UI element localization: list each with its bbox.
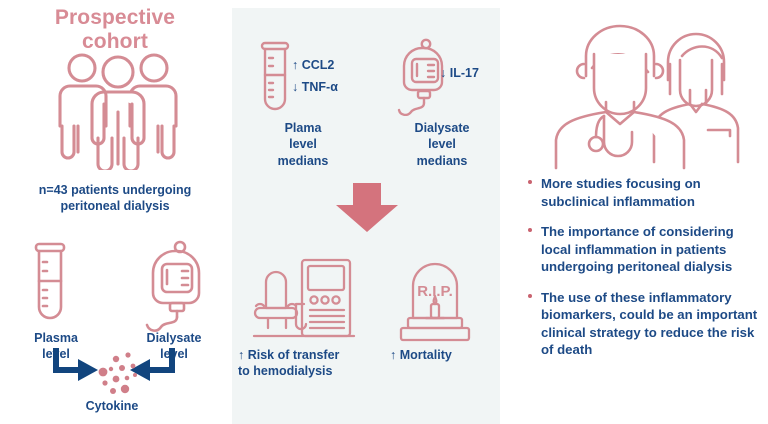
iv-bag-icon xyxy=(134,240,212,332)
plasma-label-line-1: Plasma xyxy=(34,331,78,345)
dialysis-machine-icon xyxy=(252,258,356,342)
plasma-medians-line-1: Plama xyxy=(285,121,322,135)
il17-marker-label: ↓ IL-17 xyxy=(440,66,479,80)
tnf-name: TNF-α xyxy=(302,80,338,94)
page-title: Prospective cohort xyxy=(24,6,206,53)
bullet-dot-icon xyxy=(528,294,532,298)
risk-of-transfer-caption: ↑ Risk of transfer to hemodialysis xyxy=(238,347,370,380)
il17-name: IL-17 xyxy=(450,66,479,80)
risk-caption-line-1: ↑ Risk of transfer xyxy=(238,348,339,362)
title-line-1: Prospective xyxy=(55,6,175,29)
plasma-medians-line-2: level xyxy=(289,137,317,151)
list-item: More studies focusing on subclinical inf… xyxy=(528,175,760,210)
ccl2-name: CCL2 xyxy=(302,58,335,72)
cytokine-dots-icon xyxy=(92,348,142,402)
mortality-caption-line-1: ↑ Mortality xyxy=(390,348,452,362)
dialysate-label-line-1: Dialysate xyxy=(147,331,202,345)
doctor-and-nurse-icon xyxy=(540,20,752,170)
cytokine-label: Cytokine xyxy=(52,398,172,414)
list-item: The importance of considering local infl… xyxy=(528,223,760,276)
plasma-medians-caption: Plama level medians xyxy=(248,120,358,169)
three-people-icon xyxy=(50,50,186,170)
mortality-caption: ↑ Mortality xyxy=(390,347,502,363)
dialysate-medians-line-1: Dialysate xyxy=(415,121,470,135)
dialysate-medians-line-3: medians xyxy=(417,154,468,168)
cohort-caption: n=43 patients undergoing peritoneal dial… xyxy=(16,182,214,214)
il17-arrow: ↓ xyxy=(440,66,446,80)
graphical-abstract: Prospective cohort n=43 patients undergo… xyxy=(0,0,768,424)
bullet-dot-icon xyxy=(528,180,532,184)
test-tube-icon xyxy=(22,240,78,326)
bullet-text: More studies focusing on subclinical inf… xyxy=(541,176,701,209)
tombstone-icon: R.I.P. xyxy=(398,256,472,342)
bullet-text: The use of these inflammatory biomarkers… xyxy=(541,290,757,358)
risk-caption-line-2: to hemodialysis xyxy=(238,364,332,378)
tnf-arrow: ↓ xyxy=(292,80,298,94)
list-item: The use of these inflammatory biomarkers… xyxy=(528,289,760,359)
down-arrow-icon xyxy=(334,183,400,233)
ccl2-arrow: ↑ xyxy=(292,58,298,72)
ccl2-marker-label: ↑ CCL2 xyxy=(292,58,334,72)
dialysate-medians-caption: Dialysate level medians xyxy=(386,120,498,169)
tombstone-text: R.I.P. xyxy=(417,283,453,300)
center-test-tube-icon xyxy=(252,40,300,116)
plasma-medians-line-3: medians xyxy=(278,154,329,168)
bullet-text: The importance of considering local infl… xyxy=(541,224,734,274)
bullet-dot-icon xyxy=(528,228,532,232)
dialysate-medians-line-2: level xyxy=(428,137,456,151)
tnf-marker-label: ↓ TNF-α xyxy=(292,80,338,94)
conclusions-list: More studies focusing on subclinical inf… xyxy=(528,175,760,359)
